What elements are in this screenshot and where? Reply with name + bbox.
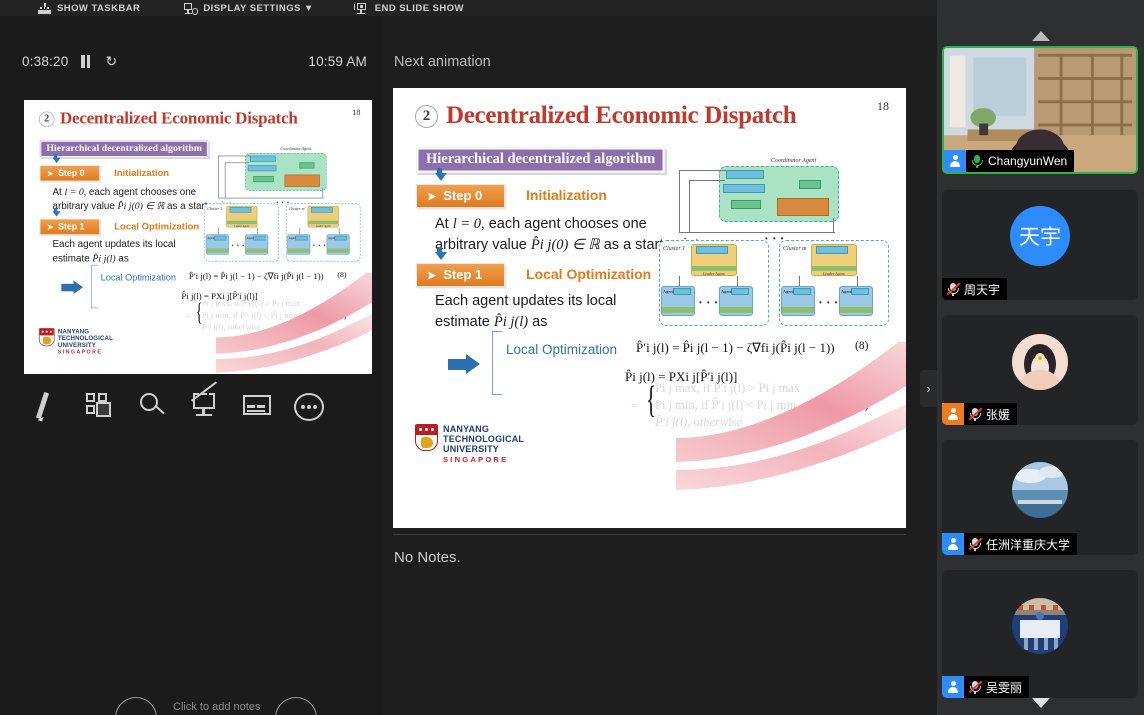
scroll-down-arrow-icon[interactable] — [937, 694, 1144, 712]
person-icon — [947, 408, 960, 421]
person-icon — [947, 538, 960, 551]
participant-nameplate: 任洲洋重庆大学 — [964, 533, 1077, 555]
display-settings-icon — [184, 2, 197, 15]
participant-role-badge — [944, 150, 966, 172]
presenter-tools-toolbar — [30, 384, 330, 430]
end-slide-show-label: End Slide Show — [375, 3, 464, 14]
mic-muted-icon — [946, 282, 960, 297]
subtitles-icon[interactable] — [238, 387, 278, 427]
wall-clock: 10:59 AM — [308, 54, 367, 69]
taskbar-icon — [38, 2, 51, 15]
participant-tile[interactable]: 吴雯丽 — [942, 570, 1138, 698]
participant-name: 张媛 — [986, 406, 1010, 423]
ntu-crest-icon — [39, 328, 55, 346]
notes-hint-label: Click to add notes — [173, 701, 260, 713]
display-settings-label: Display Settings ▼ — [203, 3, 313, 14]
ellipsis-icon[interactable] — [290, 387, 330, 427]
down-arrow-icon — [52, 158, 60, 163]
participant-nameplate: ChangyunWen — [966, 150, 1074, 172]
person-icon — [949, 155, 962, 168]
slide-section-number: 2 — [415, 105, 438, 128]
participant-badges: 张媛 — [942, 403, 1017, 425]
step0-title: Initialization — [114, 167, 169, 178]
participant-badges: 周天宇 — [942, 278, 1007, 300]
avatar-photo — [1012, 598, 1068, 654]
elapsed-timer: 0:38:20 — [22, 54, 68, 69]
step1-title: Local Optimization — [526, 266, 651, 282]
avatar-photo — [1012, 334, 1068, 390]
mic-muted-icon — [968, 680, 982, 695]
main-slide-panel: Next animation 2Decentralized Economic D… — [383, 16, 937, 715]
ntu-crest-icon — [415, 424, 438, 451]
end-slide-show-icon — [356, 2, 369, 15]
ntu-logo: NANYANGTECHNOLOGICALUNIVERSITYSINGAPORE — [39, 328, 113, 355]
participant-tile[interactable]: 任洲洋重庆大学 — [942, 440, 1138, 555]
step0-badge: ➤Step 0 — [40, 165, 101, 181]
timer-bar: 0:38:20 ↻ 10:59 AM — [22, 50, 367, 72]
slide-section-number: 2 — [39, 112, 55, 128]
avatar-initials: 天宇 — [1010, 206, 1070, 266]
notes-divider — [393, 534, 906, 535]
blank-monitor-icon[interactable] — [186, 387, 226, 427]
scroll-up-arrow-icon[interactable] — [937, 28, 1144, 44]
mic-on-icon — [970, 154, 984, 169]
down-arrow-icon — [435, 252, 447, 260]
participant-nameplate: 周天宇 — [942, 278, 1007, 300]
next-slide-button[interactable] — [275, 697, 317, 715]
pause-timer-button[interactable] — [81, 55, 92, 68]
participant-badges: 任洲洋重庆大学 — [942, 533, 1077, 555]
main-slide-view[interactable]: 2Decentralized Economic Dispatch18Hierar… — [393, 88, 906, 528]
slides-grid-icon[interactable] — [82, 387, 122, 427]
slide-title: Decentralized Economic Dispatch — [446, 102, 796, 130]
slide-nav-cutoff: Click to add notes — [0, 693, 383, 715]
mic-muted-icon — [968, 407, 982, 422]
equation-9-equals: = — [631, 398, 638, 414]
step0-badge: ➤Step 0 — [416, 184, 505, 208]
participant-nameplate: 张媛 — [964, 403, 1017, 425]
down-arrow-icon — [52, 211, 60, 216]
participant-name: 吴雯丽 — [986, 679, 1022, 696]
right-arrow-icon — [61, 280, 87, 294]
magnifier-icon[interactable] — [134, 387, 174, 427]
participant-role-badge — [942, 533, 964, 555]
step1-badge: ➤Step 1 — [416, 263, 505, 287]
slide-page-number: 18 — [877, 99, 889, 114]
slide-header-box: Hierarchical decentralized algorithm — [416, 147, 665, 173]
local-optimization-label: Local Optimization — [506, 342, 617, 357]
step0-title: Initialization — [526, 187, 607, 203]
participant-role-badge — [942, 403, 964, 425]
presenter-view-topbar: Show Taskbar Display Settings ▼ End Slid… — [0, 0, 937, 16]
participant-tile[interactable]: 天宇周天宇 — [942, 190, 1138, 300]
chevron-right-icon[interactable]: › — [920, 370, 937, 407]
next-animation-label: Next animation — [394, 54, 491, 70]
ntu-logo: NANYANGTECHNOLOGICALUNIVERSITYSINGAPORE — [415, 424, 524, 464]
participant-tile[interactable]: ChangyunWen — [942, 46, 1138, 174]
equation-9-equals: = — [185, 310, 190, 321]
participant-name: ChangyunWen — [988, 154, 1067, 168]
display-settings-button[interactable]: Display Settings ▼ — [184, 0, 313, 16]
slide-title: Decentralized Economic Dispatch — [60, 109, 298, 128]
pen-icon[interactable] — [30, 387, 70, 427]
speaker-notes-text: No Notes. — [394, 549, 461, 566]
participant-tile[interactable]: 张媛 — [942, 315, 1138, 425]
decorative-swoosh — [216, 272, 372, 374]
participants-filmstrip: ChangyunWen天宇周天宇张媛任洲洋重庆大学吴雯丽 — [937, 0, 1144, 715]
slide-header-box: Hierarchical decentralized algorithm — [40, 140, 209, 158]
down-arrow-icon — [435, 173, 447, 181]
show-taskbar-label: Show Taskbar — [57, 3, 140, 14]
slide-page-number: 18 — [352, 107, 360, 117]
previous-slide-button[interactable] — [115, 697, 157, 715]
right-arrow-icon — [448, 354, 486, 375]
decorative-swoosh — [676, 342, 906, 492]
presenter-preview-panel: 0:38:20 ↻ 10:59 AM 2Decentralized Econom… — [0, 16, 383, 715]
reset-timer-icon[interactable]: ↻ — [105, 54, 119, 68]
participant-name: 周天宇 — [964, 281, 1000, 298]
current-slide-thumbnail[interactable]: 2Decentralized Economic Dispatch18Hierar… — [24, 100, 372, 374]
show-taskbar-button[interactable]: Show Taskbar — [38, 0, 140, 16]
mic-muted-icon — [968, 537, 982, 552]
participant-badges: ChangyunWen — [944, 150, 1074, 172]
person-icon — [947, 681, 960, 694]
end-slide-show-button[interactable]: End Slide Show — [356, 0, 464, 16]
step1-text: Each agent updates its localestimate P̂i… — [52, 238, 175, 266]
step1-badge: ➤Step 1 — [40, 219, 101, 235]
step1-text: Each agent updates its localestimate P̂i… — [435, 291, 616, 332]
participant-name: 任洲洋重庆大学 — [986, 536, 1070, 553]
local-optimization-label: Local Optimization — [101, 272, 176, 282]
step1-title: Local Optimization — [114, 221, 199, 232]
avatar-photo — [1012, 462, 1068, 518]
